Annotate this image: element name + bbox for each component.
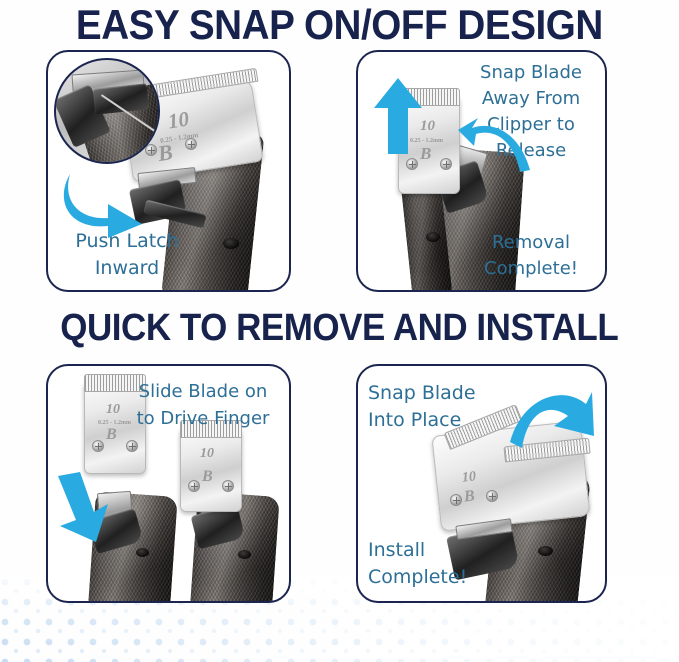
clipper-handle-hole bbox=[426, 232, 440, 242]
blade-screw-left-a bbox=[92, 440, 104, 452]
blade-screw-right-b bbox=[222, 480, 234, 492]
curved-arrow-right-down-icon bbox=[60, 168, 146, 238]
blade-screw-right bbox=[486, 490, 498, 502]
blade-engraving-brand-left: B bbox=[106, 426, 117, 444]
blade-screw-left-b bbox=[126, 440, 138, 452]
clipper-handle-right-hole bbox=[238, 550, 251, 559]
blade-screw-right bbox=[440, 158, 452, 170]
straight-arrow-up-icon bbox=[374, 78, 422, 154]
clipper-handle-hole bbox=[538, 546, 553, 556]
blade-engraving-number-right: 10 bbox=[200, 446, 214, 462]
caption-install-complete: Install Complete! bbox=[368, 537, 508, 591]
straight-arrow-down-icon bbox=[54, 472, 112, 542]
caption-slide-blade: Slide Blade on to Drive Finger bbox=[123, 378, 283, 432]
latch-closeup-inset bbox=[54, 58, 160, 164]
blade-engraving-number: 10 bbox=[420, 118, 435, 135]
panel-slide-blade: 10 0.25 - 1.2mm B 10 B Slide Blade on to… bbox=[46, 364, 291, 603]
panel-push-latch: 10 0.25 - 1.2mm B Push Latch Inward bbox=[46, 50, 291, 292]
blade-screw-left bbox=[406, 158, 418, 170]
panel-snap-away: 10 0.25 - 1.2mm B Snap Blade Away From C… bbox=[356, 50, 607, 292]
clipper-handle-left-hole bbox=[136, 548, 149, 557]
blade-engraving-number: 10 bbox=[461, 469, 477, 486]
page-title-middle-text: QUICK TO REMOVE AND INSTALL bbox=[61, 307, 619, 349]
infographic-page: EASY SNAP ON/OFF DESIGN 10 0.25 - 1.2mm … bbox=[0, 0, 679, 662]
blade-engraving-number-left: 10 bbox=[106, 402, 120, 418]
page-title-top-text: EASY SNAP ON/OFF DESIGN bbox=[76, 2, 603, 48]
blade-engraving-brand: B bbox=[463, 487, 475, 506]
blade-engraving-number: 10 bbox=[166, 107, 191, 135]
curved-arrow-up-left-icon bbox=[458, 116, 534, 176]
page-title-middle: QUICK TO REMOVE AND INSTALL bbox=[0, 307, 679, 349]
blade-screw-left bbox=[450, 494, 462, 506]
panel-snap-into-place: 10 B Snap Blade Into Place Install Compl… bbox=[356, 364, 607, 603]
blade-screw-right-a bbox=[188, 480, 200, 492]
curved-arrow-right-down-icon bbox=[508, 390, 594, 456]
page-title-top: EASY SNAP ON/OFF DESIGN bbox=[0, 2, 679, 48]
blade-screw-right bbox=[185, 138, 197, 150]
caption-snap-into-place: Snap Blade Into Place bbox=[368, 380, 508, 434]
caption-removal-complete: Removal Complete! bbox=[465, 230, 597, 282]
blade-engraving-brand-right: B bbox=[202, 468, 213, 486]
clipper-handle-hole bbox=[223, 238, 239, 249]
